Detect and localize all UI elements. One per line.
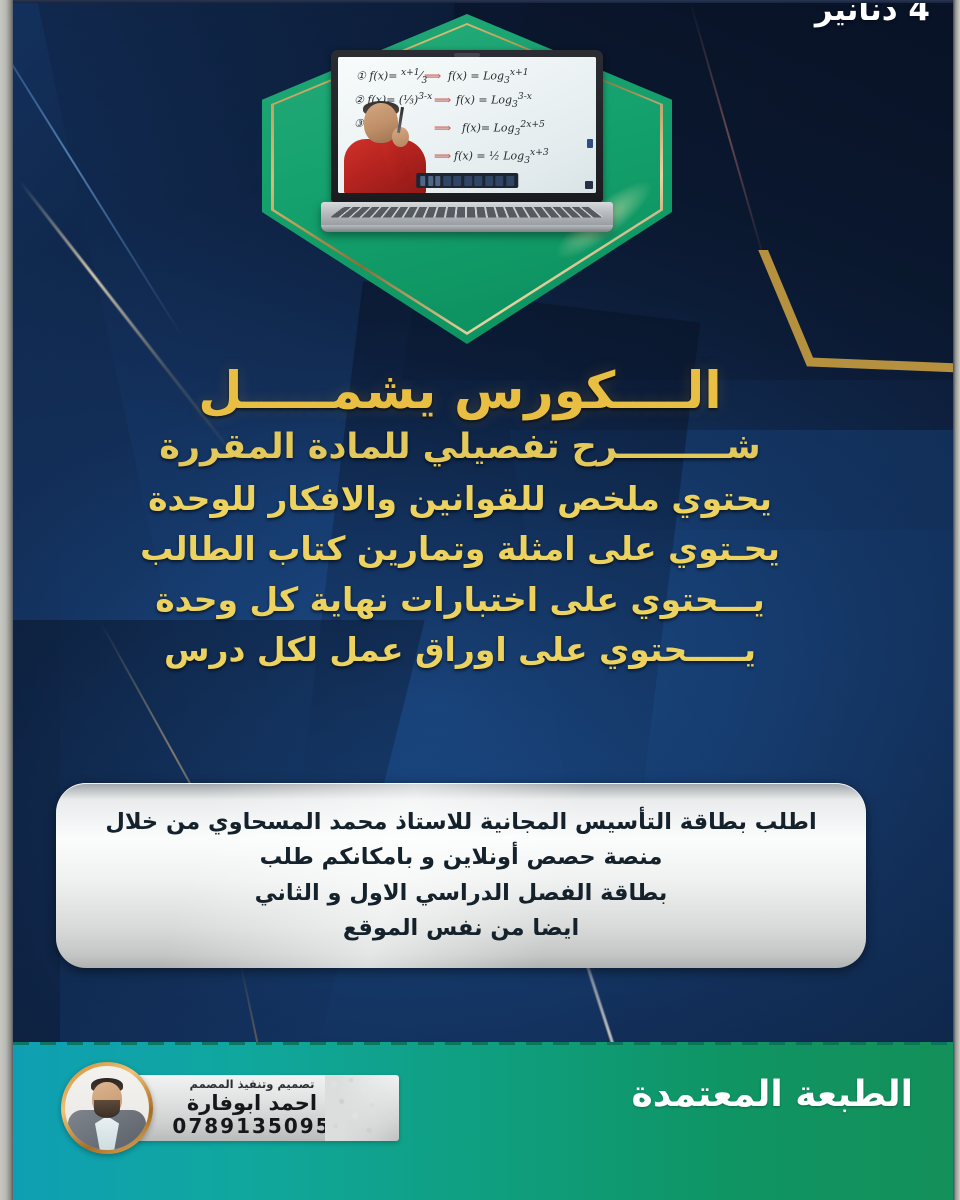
laptop-front-lip	[321, 225, 613, 232]
feature-item: يـــــحتوي على اوراق عمل لكل درس	[0, 625, 920, 675]
info-panel-text: اطلب بطاقة التأسيس المجانية للاستاذ محمد…	[79, 805, 842, 945]
laptop-lid: ① f(x)= x+1⁄3 ⟹ f(x) = Log3x+1 ② f(x)= (…	[331, 50, 603, 202]
shatter-particles-decoration	[325, 1075, 399, 1141]
feature-item: يـــحتوي على اختبارات نهاية كل وحدة	[0, 575, 920, 625]
laptop-icon: ① f(x)= x+1⁄3 ⟹ f(x) = Log3x+1 ② f(x)= (…	[331, 50, 603, 232]
designer-credit: تصميم وتنفيذ المصمم احمد ابوفارة 0789135…	[61, 1060, 399, 1156]
toolbar-button	[428, 176, 433, 186]
designer-plate: تصميم وتنفيذ المصمم احمد ابوفارة 0789135…	[137, 1075, 399, 1141]
info-panel: اطلب بطاقة التأسيس المجانية للاستاذ محمد…	[56, 783, 866, 968]
whiteboard-arrow: ⟹	[424, 69, 441, 83]
feature-item: يحـتوي على امثلة وتمارين كتاب الطالب	[0, 524, 920, 574]
whiteboard-arrow: ⟹	[434, 149, 451, 163]
info-panel-line: ايضا من نفس الموقع	[105, 911, 816, 946]
course-contents-block: الــــكورس يشمـــــل شـــــــــرح تفصيلي…	[0, 362, 960, 676]
designer-phone: 0789135095	[163, 1115, 341, 1138]
price-currency: دنانير	[815, 0, 898, 28]
whiteboard-equation: f(x) = Log3x+1	[448, 67, 529, 86]
band-dashed-divider	[13, 1042, 953, 1045]
designer-role: تصميم وتنفيذ المصمم	[163, 1078, 341, 1091]
whiteboard-equation: f(x)= Log32x+5	[462, 119, 545, 138]
laptop-base	[321, 202, 613, 232]
webcam-icon	[454, 53, 480, 57]
toolbar-button	[506, 176, 514, 186]
screen-corner-badge	[585, 181, 593, 189]
whiteboard-equation: ① f(x)= x+1⁄3	[356, 67, 427, 86]
feature-item: يحتوي ملخص للقوانين والافكار للوحدة	[0, 474, 920, 524]
scan-edge-right	[953, 0, 960, 1200]
avatar-image	[65, 1066, 149, 1150]
edition-label: الطبعة المعتمدة	[632, 1074, 914, 1115]
toolbar-button	[464, 176, 472, 186]
info-panel-line: اطلب بطاقة التأسيس المجانية للاستاذ محمد…	[105, 805, 816, 840]
toolbar-button	[420, 176, 425, 186]
poster-back-cover: 4 دنانير ① f(x)= x+1⁄3 ⟹ f(x) = Log3x+1 …	[0, 0, 960, 1200]
footer-band: الطبعة المعتمدة تصميم وتنفيذ المصمم احمد…	[13, 1042, 953, 1200]
avatar-beard	[94, 1100, 120, 1118]
laptop-screen: ① f(x)= x+1⁄3 ⟹ f(x) = Log3x+1 ② f(x)= (…	[338, 57, 596, 193]
price-tag: 4 دنانير	[815, 0, 930, 28]
toolbar-button	[435, 176, 440, 186]
toolbar-button	[474, 176, 482, 186]
headline-subtitle: شـــــــــرح تفصيلي للمادة المقررة	[0, 421, 920, 474]
toolbar-button	[453, 176, 461, 186]
whiteboard-arrow: ⟹	[434, 121, 451, 135]
whiteboard-arrow: ⟹	[434, 93, 451, 107]
toolbar-button	[485, 176, 493, 186]
toolbar-button	[443, 176, 451, 186]
hero-hexagon: ① f(x)= x+1⁄3 ⟹ f(x) = Log3x+1 ② f(x)= (…	[262, 14, 672, 344]
screen-side-badge	[587, 139, 593, 148]
laptop-keyboard	[330, 207, 604, 217]
info-panel-line: منصة حصص أونلاين و بامكانكم طلب	[105, 840, 816, 875]
toolbar-button	[495, 176, 503, 186]
whiteboard-equation: f(x) = ½ Log3x+3	[454, 147, 549, 166]
avatar	[61, 1062, 153, 1154]
info-panel-line: بطاقة الفصل الدراسي الاول و الثاني	[105, 876, 816, 911]
scan-edge-top	[0, 0, 960, 3]
whiteboard-equation: f(x) = Log33-x	[456, 91, 532, 110]
scan-edge-left	[0, 0, 13, 1200]
designer-name: احمد ابوفارة	[163, 1091, 341, 1115]
price-amount: 4	[908, 0, 930, 28]
whiteboard-toolbar	[416, 173, 518, 188]
whiteboard-image: ① f(x)= x+1⁄3 ⟹ f(x) = Log3x+1 ② f(x)= (…	[338, 57, 596, 193]
teacher-hand	[392, 127, 409, 147]
page-title: الــــكورس يشمـــــل	[0, 362, 920, 421]
